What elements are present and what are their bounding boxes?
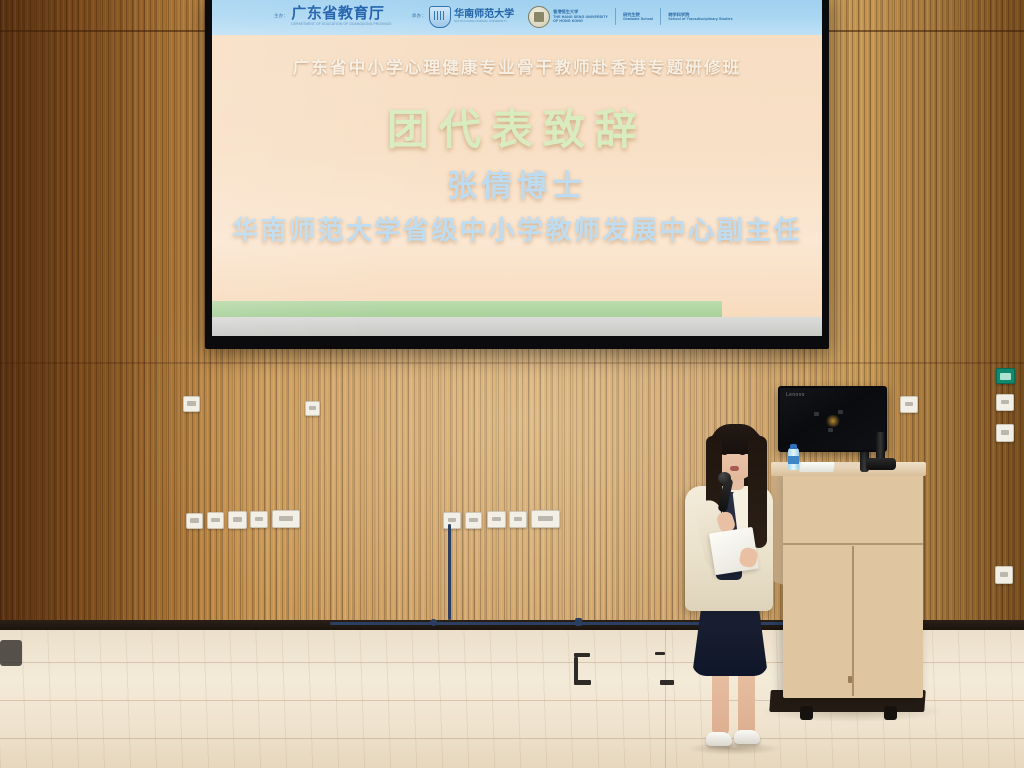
microphone-head-icon bbox=[718, 472, 731, 484]
projection-screen: 主办： 广东省教育厅 DEPARTMENT OF EDUCATION OF GU… bbox=[212, 0, 822, 336]
podium-caster bbox=[800, 706, 813, 720]
wall-plate bbox=[228, 511, 247, 529]
presentation-scene: 主办： 广东省教育厅 DEPARTMENT OF EDUCATION OF GU… bbox=[0, 0, 1024, 768]
slide-footer-band bbox=[212, 317, 822, 336]
hsu-name-en-line2: OF HONG KONG bbox=[553, 19, 608, 23]
monitor-screen-glow bbox=[825, 415, 841, 427]
wall-plate bbox=[207, 512, 224, 529]
program-title: 广东省中小学心理健康专业骨干教师赴香港专题研修班 bbox=[212, 54, 822, 78]
wall-plate bbox=[183, 396, 200, 412]
presentation-slide: 主办： 广东省教育厅 DEPARTMENT OF EDUCATION OF GU… bbox=[212, 0, 822, 336]
header-divider bbox=[615, 8, 616, 25]
cable-clip bbox=[430, 619, 437, 626]
podium-door-seam bbox=[852, 546, 854, 696]
podium-microphone-base bbox=[866, 458, 896, 470]
exit-sign-icon bbox=[996, 368, 1015, 384]
hsu-crest-icon bbox=[528, 6, 550, 28]
header-divider bbox=[660, 8, 661, 25]
scnu-name-en: SOUTH CHINA NORMAL UNIVERSITY bbox=[454, 20, 514, 23]
monitor-screen-element bbox=[838, 410, 843, 414]
wall-cable-drop bbox=[448, 524, 451, 620]
organizer-logo-group: 承办： 华南师范大学 SOUTH CHINA NORMAL UNIVERSITY bbox=[412, 0, 514, 35]
speaker-leg bbox=[738, 670, 755, 736]
wall-plate bbox=[186, 513, 203, 529]
monitor-screen-element bbox=[814, 412, 819, 416]
wall-plate bbox=[995, 566, 1013, 584]
monitor-screen-element bbox=[828, 428, 833, 432]
wall-plate bbox=[996, 424, 1014, 442]
water-bottle-cap bbox=[790, 444, 797, 449]
host-org-name-cn: 广东省教育厅 bbox=[291, 6, 391, 21]
floor-socket-hatch bbox=[655, 652, 665, 655]
slide-header-band: 主办： 广东省教育厅 DEPARTMENT OF EDUCATION OF GU… bbox=[212, 0, 822, 35]
wall-plate bbox=[250, 511, 268, 528]
cable-clip bbox=[575, 618, 582, 626]
wall-plate bbox=[443, 512, 461, 529]
monitor-brand-label: Lenovo bbox=[786, 392, 805, 398]
projection-screen-frame: 主办： 广东省教育厅 DEPARTMENT OF EDUCATION OF GU… bbox=[205, 0, 829, 349]
slide-headline: 团代表致辞 bbox=[212, 96, 822, 157]
organizer-kicker-label: 承办： bbox=[412, 14, 426, 19]
speaker-role: 华南师范大学省级中小学教师发展中心副主任 bbox=[212, 210, 822, 247]
transdisciplinary-school-en: School of Transdisciplinary Studies bbox=[668, 17, 732, 21]
water-bottle-label bbox=[788, 456, 799, 464]
wall-plate bbox=[509, 511, 527, 528]
host-org-name-en: DEPARTMENT OF EDUCATION OF GUANGDONG PRO… bbox=[291, 23, 391, 26]
host-kicker-label: 主办： bbox=[274, 14, 288, 19]
hsu-logo-group: 香港恒生大学 THE HANG SENG UNIVERSITY OF HONG … bbox=[528, 0, 608, 35]
podium-door-latch[interactable] bbox=[848, 676, 852, 683]
wall-plate bbox=[487, 511, 506, 528]
podium-caster bbox=[884, 706, 897, 720]
slide-accent-bar bbox=[212, 301, 722, 317]
speaker-name: 张倩博士 bbox=[212, 161, 822, 205]
wall-plate bbox=[900, 396, 918, 413]
speaker-mouth bbox=[730, 466, 739, 471]
graduate-school-en: Graduate School bbox=[623, 17, 653, 21]
floor-seam bbox=[0, 738, 1024, 739]
lenovo-monitor[interactable]: Lenovo bbox=[778, 386, 887, 452]
graduate-school-group: 研究生院 Graduate School bbox=[623, 12, 653, 22]
floor-seam bbox=[665, 630, 666, 768]
host-logo-group: 主办： 广东省教育厅 DEPARTMENT OF EDUCATION OF GU… bbox=[274, 0, 392, 35]
wall-plate bbox=[305, 401, 320, 416]
wall-plate bbox=[996, 394, 1014, 411]
speaker-floor-shadow bbox=[686, 742, 782, 755]
wall-plate bbox=[465, 512, 482, 529]
podium-papers bbox=[799, 462, 834, 472]
floor-object bbox=[0, 640, 22, 666]
floor-socket-hatch bbox=[574, 680, 591, 685]
podium-shelf-line bbox=[783, 543, 923, 545]
speaker-leg bbox=[712, 670, 729, 736]
wall-seam-mid bbox=[0, 362, 1024, 364]
wall-plate-wide bbox=[531, 510, 560, 528]
floor-socket-hatch bbox=[574, 657, 578, 682]
floor-socket-hatch bbox=[660, 680, 674, 685]
wall-plate-wide bbox=[272, 510, 300, 528]
scnu-crest-icon bbox=[429, 6, 451, 28]
transdisciplinary-school-group: 跨学科学院 School of Transdisciplinary Studie… bbox=[668, 12, 732, 22]
speaker-shoe bbox=[734, 730, 760, 744]
speaker-shoe bbox=[706, 732, 732, 746]
